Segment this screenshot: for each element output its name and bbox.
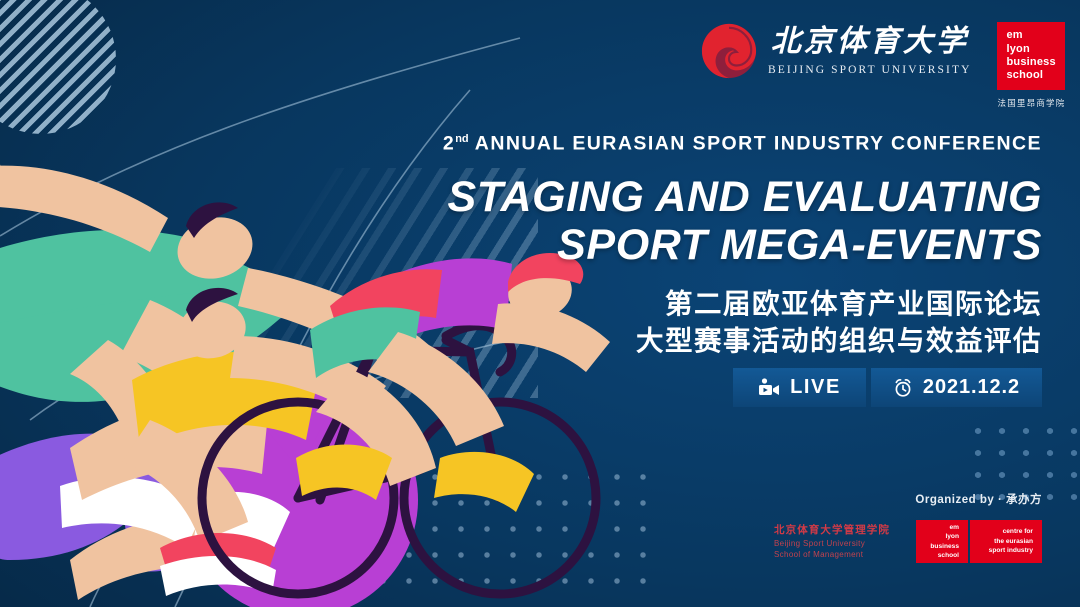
kicker-ordinal-suffix: nd: [455, 133, 468, 145]
live-badge[interactable]: LIVE: [733, 368, 866, 407]
bsu-school-name-en-1: Beijing Sport University: [774, 538, 890, 549]
bsu-logo-text: 北京体育大学 BEIJING SPORT UNIVERSITY: [768, 27, 971, 76]
title-line-2: SPORT MEGA-EVENTS: [402, 221, 1042, 269]
emlyon-line1: em: [1006, 29, 1065, 42]
page-title: STAGING AND EVALUATING SPORT MEGA-EVENTS: [402, 173, 1042, 269]
subtitle-line-1: 第二届欧亚体育产业国际论坛: [402, 286, 1042, 323]
date-badge[interactable]: 2021.12.2: [871, 368, 1042, 407]
subtitle-line-2: 大型赛事活动的组织与效益评估: [402, 323, 1042, 360]
emlyon-name-cn: 法国里昂商学院: [998, 97, 1066, 109]
bsu-name-en: BEIJING SPORT UNIVERSITY: [768, 64, 971, 76]
organized-by-label: Organized by · 承办方: [774, 491, 1042, 507]
bsu-logo: 北京体育大学 BEIJING SPORT UNIVERSITY: [700, 22, 971, 80]
hero-copy: 2nd ANNUAL EURASIAN SPORT INDUSTRY CONFE…: [402, 134, 1042, 359]
alarm-clock-icon: [893, 378, 913, 398]
subtitle-cn: 第二届欧亚体育产业国际论坛 大型赛事活动的组织与效益评估: [402, 286, 1042, 359]
kicker-ordinal: 2: [443, 133, 455, 155]
kicker-rest: ANNUAL EURASIAN SPORT INDUSTRY CONFERENC…: [469, 133, 1042, 155]
footer-emlyon-logo: em lyon business school centre for the e…: [916, 520, 1042, 563]
footer: Organized by · 承办方 北京体育大学管理学院 Beijing Sp…: [774, 491, 1042, 563]
live-badge-label: LIVE: [790, 376, 841, 399]
footer-emlyon-left: em lyon business school: [916, 520, 968, 563]
emlyon-logo: em lyon business school 法国里昂商学院: [997, 22, 1065, 109]
conference-poster: 北京体育大学 BEIJING SPORT UNIVERSITY em lyon …: [0, 0, 1080, 607]
footer-emlyon-right: centre for the eurasian sport industry: [970, 520, 1042, 563]
title-line-1: STAGING AND EVALUATING: [448, 173, 1042, 221]
header-logos: 北京体育大学 BEIJING SPORT UNIVERSITY em lyon …: [700, 22, 1065, 109]
bsu-name-cn: 北京体育大学: [771, 27, 969, 57]
bsu-swirl-icon: [700, 22, 758, 80]
date-badge-label: 2021.12.2: [923, 376, 1020, 399]
emlyon-line3: business: [1006, 56, 1065, 69]
video-camera-icon: [758, 378, 780, 397]
bsu-school-name-en-2: School of Management: [774, 549, 890, 560]
footer-logo-row: 北京体育大学管理学院 Beijing Sport University Scho…: [774, 520, 1042, 563]
bsu-school-logo: 北京体育大学管理学院 Beijing Sport University Scho…: [774, 523, 890, 560]
emlyon-line4: school: [1006, 69, 1065, 82]
dot-grid-right-decoration: [966, 420, 1080, 500]
conference-kicker: 2nd ANNUAL EURASIAN SPORT INDUSTRY CONFE…: [402, 134, 1042, 154]
bsu-school-name-cn: 北京体育大学管理学院: [774, 523, 890, 537]
badge-row: LIVE 2021.12.2: [733, 368, 1042, 407]
emlyon-line2: lyon: [1006, 43, 1065, 56]
emlyon-red-box: em lyon business school: [997, 22, 1065, 90]
